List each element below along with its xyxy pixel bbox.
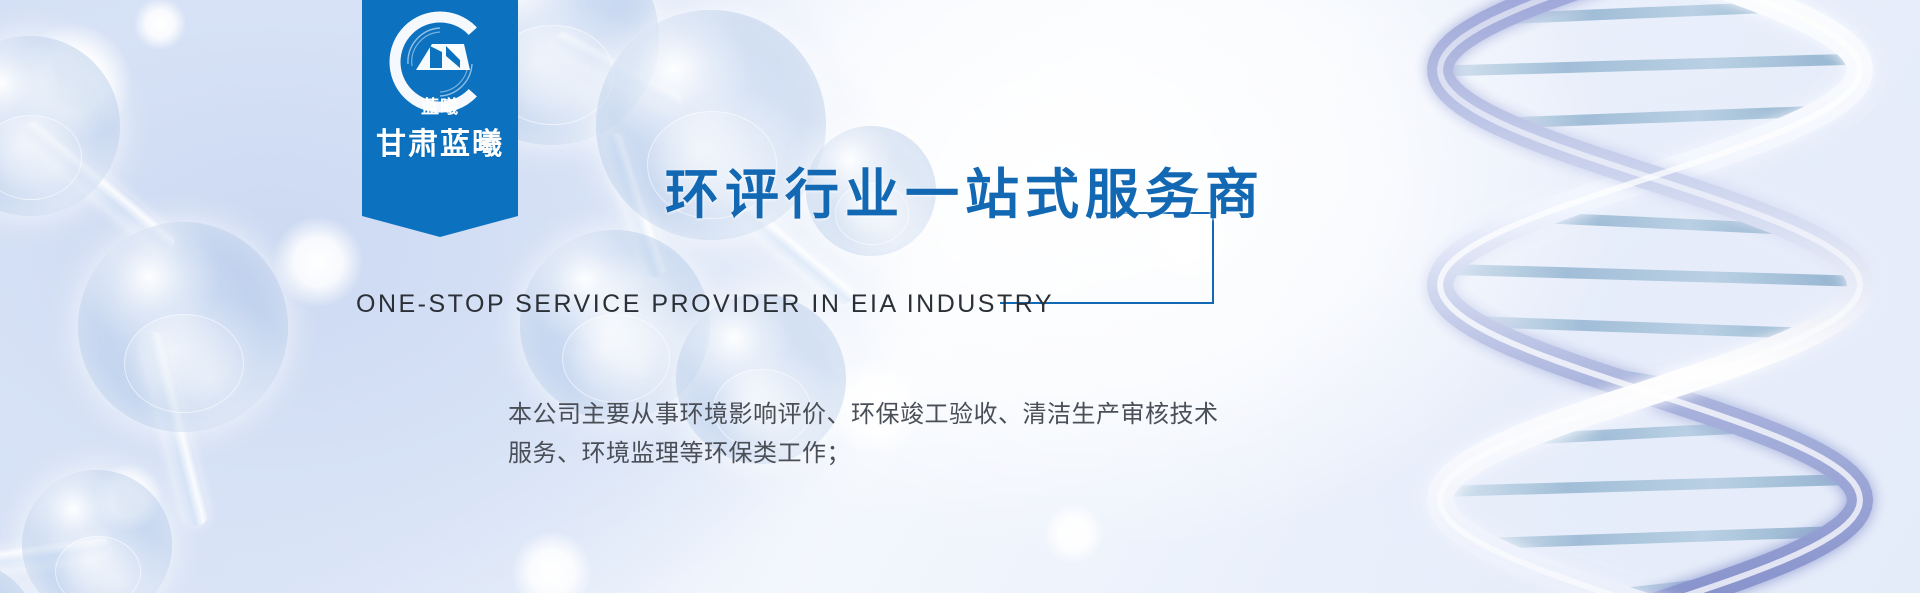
dna-base-pair [1442,269,1858,281]
bokeh-dot [273,217,363,307]
description-line-1: 本公司主要从事环境影响评价、环保竣工验收、清洁生产审核技术 [508,396,1268,435]
lanxi-circle-logo-icon: 蓝曦 [386,8,494,116]
bracket-right-line [1212,212,1214,304]
badge-company-name: 甘肃蓝曦 [376,130,504,160]
bokeh-dot [134,0,186,50]
molecule-sphere [22,470,172,593]
dna-base-pair [1472,532,1829,544]
dna-base-pair [1489,112,1811,124]
company-badge[interactable]: 蓝曦 甘肃蓝曦 [362,0,518,237]
bokeh-dot [1044,504,1104,564]
page-subtitle: ONE-STOP SERVICE PROVIDER IN EIA INDUSTR… [356,290,1054,319]
dna-base-pair [1445,479,1856,491]
description-text: 本公司主要从事环境影响评价、环保竣工验收、清洁生产审核技术 服务、环境监理等环保… [508,396,1268,474]
bokeh-dot [512,532,592,593]
dna-base-pair [1480,322,1820,334]
description-line-2: 服务、环境监理等环保类工作； [508,435,1268,474]
molecule-sphere [78,222,288,432]
dna-svg [1220,0,1920,593]
promo-banner: 蓝曦 甘肃蓝曦 环评行业一站式服务商 ONE-STOP SERVICE PROV… [0,0,1920,593]
dna-base-pair [1441,59,1860,71]
page-title: 环评行业一站式服务商 [665,168,1265,222]
dna-double-helix-graphic [1220,0,1920,593]
logo-wordmark: 蓝曦 [386,93,494,119]
